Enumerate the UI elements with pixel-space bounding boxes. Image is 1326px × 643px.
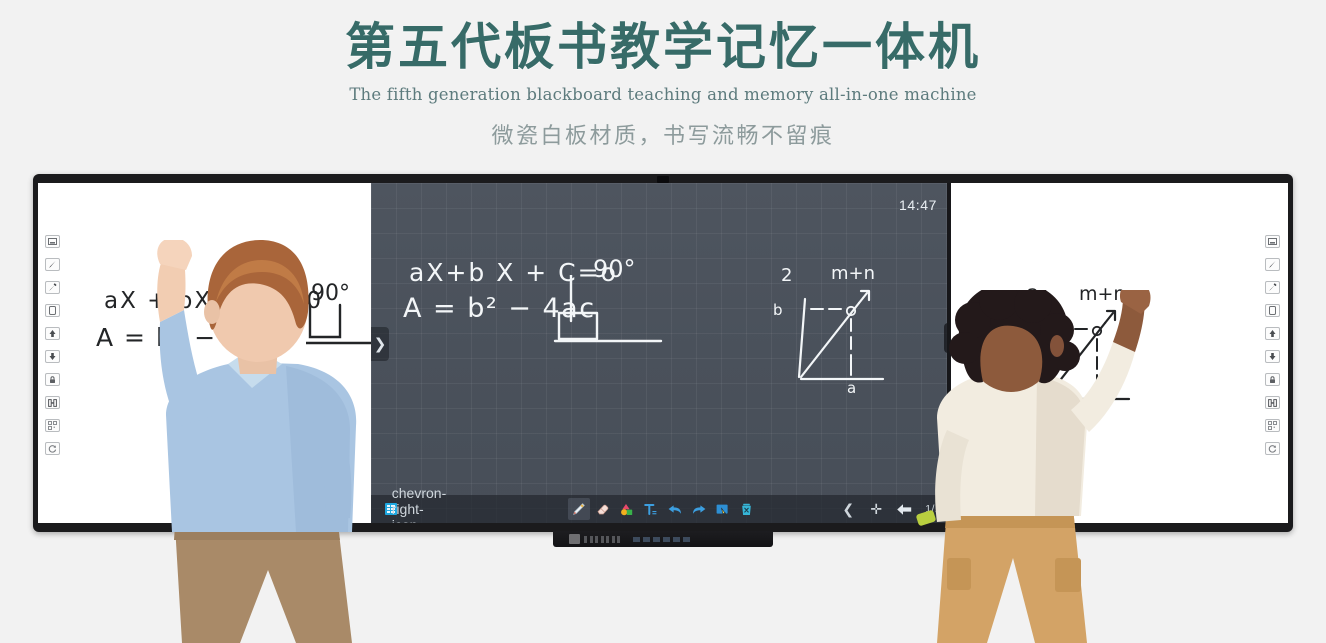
center-screen-toolbar[interactable]: chevron-right-icon <box>371 495 951 523</box>
shapes-color-tool[interactable] <box>616 498 638 520</box>
arrow-up-icon[interactable] <box>1265 327 1280 340</box>
screen-capture-icon[interactable] <box>1265 235 1280 248</box>
undo-button[interactable] <box>664 498 686 520</box>
lock-icon[interactable] <box>1265 373 1280 386</box>
page-title: 第五代板书教学记忆一体机 <box>0 18 1326 76</box>
center-right-angle-drawing <box>549 275 669 355</box>
status-indicators <box>584 536 620 543</box>
right-vector-diagram <box>1029 301 1149 413</box>
panel-expand-chevron-right-icon[interactable]: ❯ <box>371 327 389 361</box>
left-equation-1: aX + bX + c = 0 <box>104 288 323 314</box>
toolbar-tools-group[interactable] <box>530 498 795 520</box>
pen-thick-icon[interactable] <box>1265 281 1280 294</box>
clock-display: 14:47 <box>899 197 937 213</box>
eraser-tool[interactable] <box>592 498 614 520</box>
toolbar-left-group[interactable]: chevron-right-icon <box>371 498 530 520</box>
left-board-tool-rail[interactable] <box>45 235 60 455</box>
left-equation-2: A = b² − 4ac <box>96 323 276 352</box>
lock-icon[interactable] <box>45 373 60 386</box>
all-in-one-device: aX + bX + c = 0 A = b² − 4ac 90° <box>33 174 1293 534</box>
center-vector-diagram <box>783 281 903 393</box>
device-control-strip[interactable] <box>553 531 773 547</box>
pen-thin-icon[interactable] <box>1265 258 1280 271</box>
screen-capture-icon[interactable] <box>45 235 60 248</box>
center-vector-side-label: b <box>773 301 783 319</box>
camera-icon <box>657 176 669 183</box>
arrow-down-icon[interactable] <box>45 350 60 363</box>
page-add-button[interactable]: ✛ <box>865 498 887 520</box>
select-tool[interactable] <box>712 498 734 520</box>
half-split-icon[interactable] <box>1265 396 1280 409</box>
page-prev-button[interactable]: ❮ <box>837 498 859 520</box>
right-vector-side-label: b <box>1019 321 1029 339</box>
qr-code-icon[interactable] <box>45 419 60 432</box>
arrow-down-icon[interactable] <box>1265 350 1280 363</box>
center-interactive-screen[interactable]: 14:47 ❯ aX+b X + C=o A = b² − 4ac 90° 2 … <box>371 183 951 523</box>
page-icon[interactable] <box>45 304 60 317</box>
refresh-icon[interactable] <box>1265 442 1280 455</box>
subtitle-chinese: 微瓷白板材质，书写流畅不留痕 <box>0 118 1326 150</box>
arrow-up-icon[interactable] <box>45 327 60 340</box>
refresh-icon[interactable] <box>45 442 60 455</box>
text-tool[interactable] <box>640 498 662 520</box>
pen-thin-icon[interactable] <box>45 258 60 271</box>
page-icon[interactable] <box>1265 304 1280 317</box>
back-arrow-button[interactable] <box>893 498 915 520</box>
io-ports <box>633 537 690 542</box>
qr-code-icon[interactable] <box>1265 419 1280 432</box>
right-board-tool-rail[interactable] <box>1265 235 1280 455</box>
page-header: 第五代板书教学记忆一体机 The fifth generation blackb… <box>0 0 1326 150</box>
right-whiteboard-panel[interactable]: 2 m+n b a <box>951 183 1288 523</box>
page-indicator: 1/1 <box>921 503 945 515</box>
pen-thick-icon[interactable] <box>45 281 60 294</box>
delete-button[interactable] <box>736 498 758 520</box>
redo-button[interactable] <box>688 498 710 520</box>
power-button[interactable] <box>569 534 580 544</box>
pen-tool[interactable] <box>568 498 590 520</box>
chevron-right-icon[interactable]: chevron-right-icon <box>408 498 430 520</box>
toolbar-page-nav-group[interactable]: ❮ ✛ 1/1 <box>795 498 951 520</box>
subtitle-english: The fifth generation blackboard teaching… <box>0 85 1326 104</box>
left-whiteboard-panel[interactable]: aX + bX + c = 0 A = b² − 4ac 90° <box>38 183 400 523</box>
half-split-icon[interactable] <box>45 396 60 409</box>
